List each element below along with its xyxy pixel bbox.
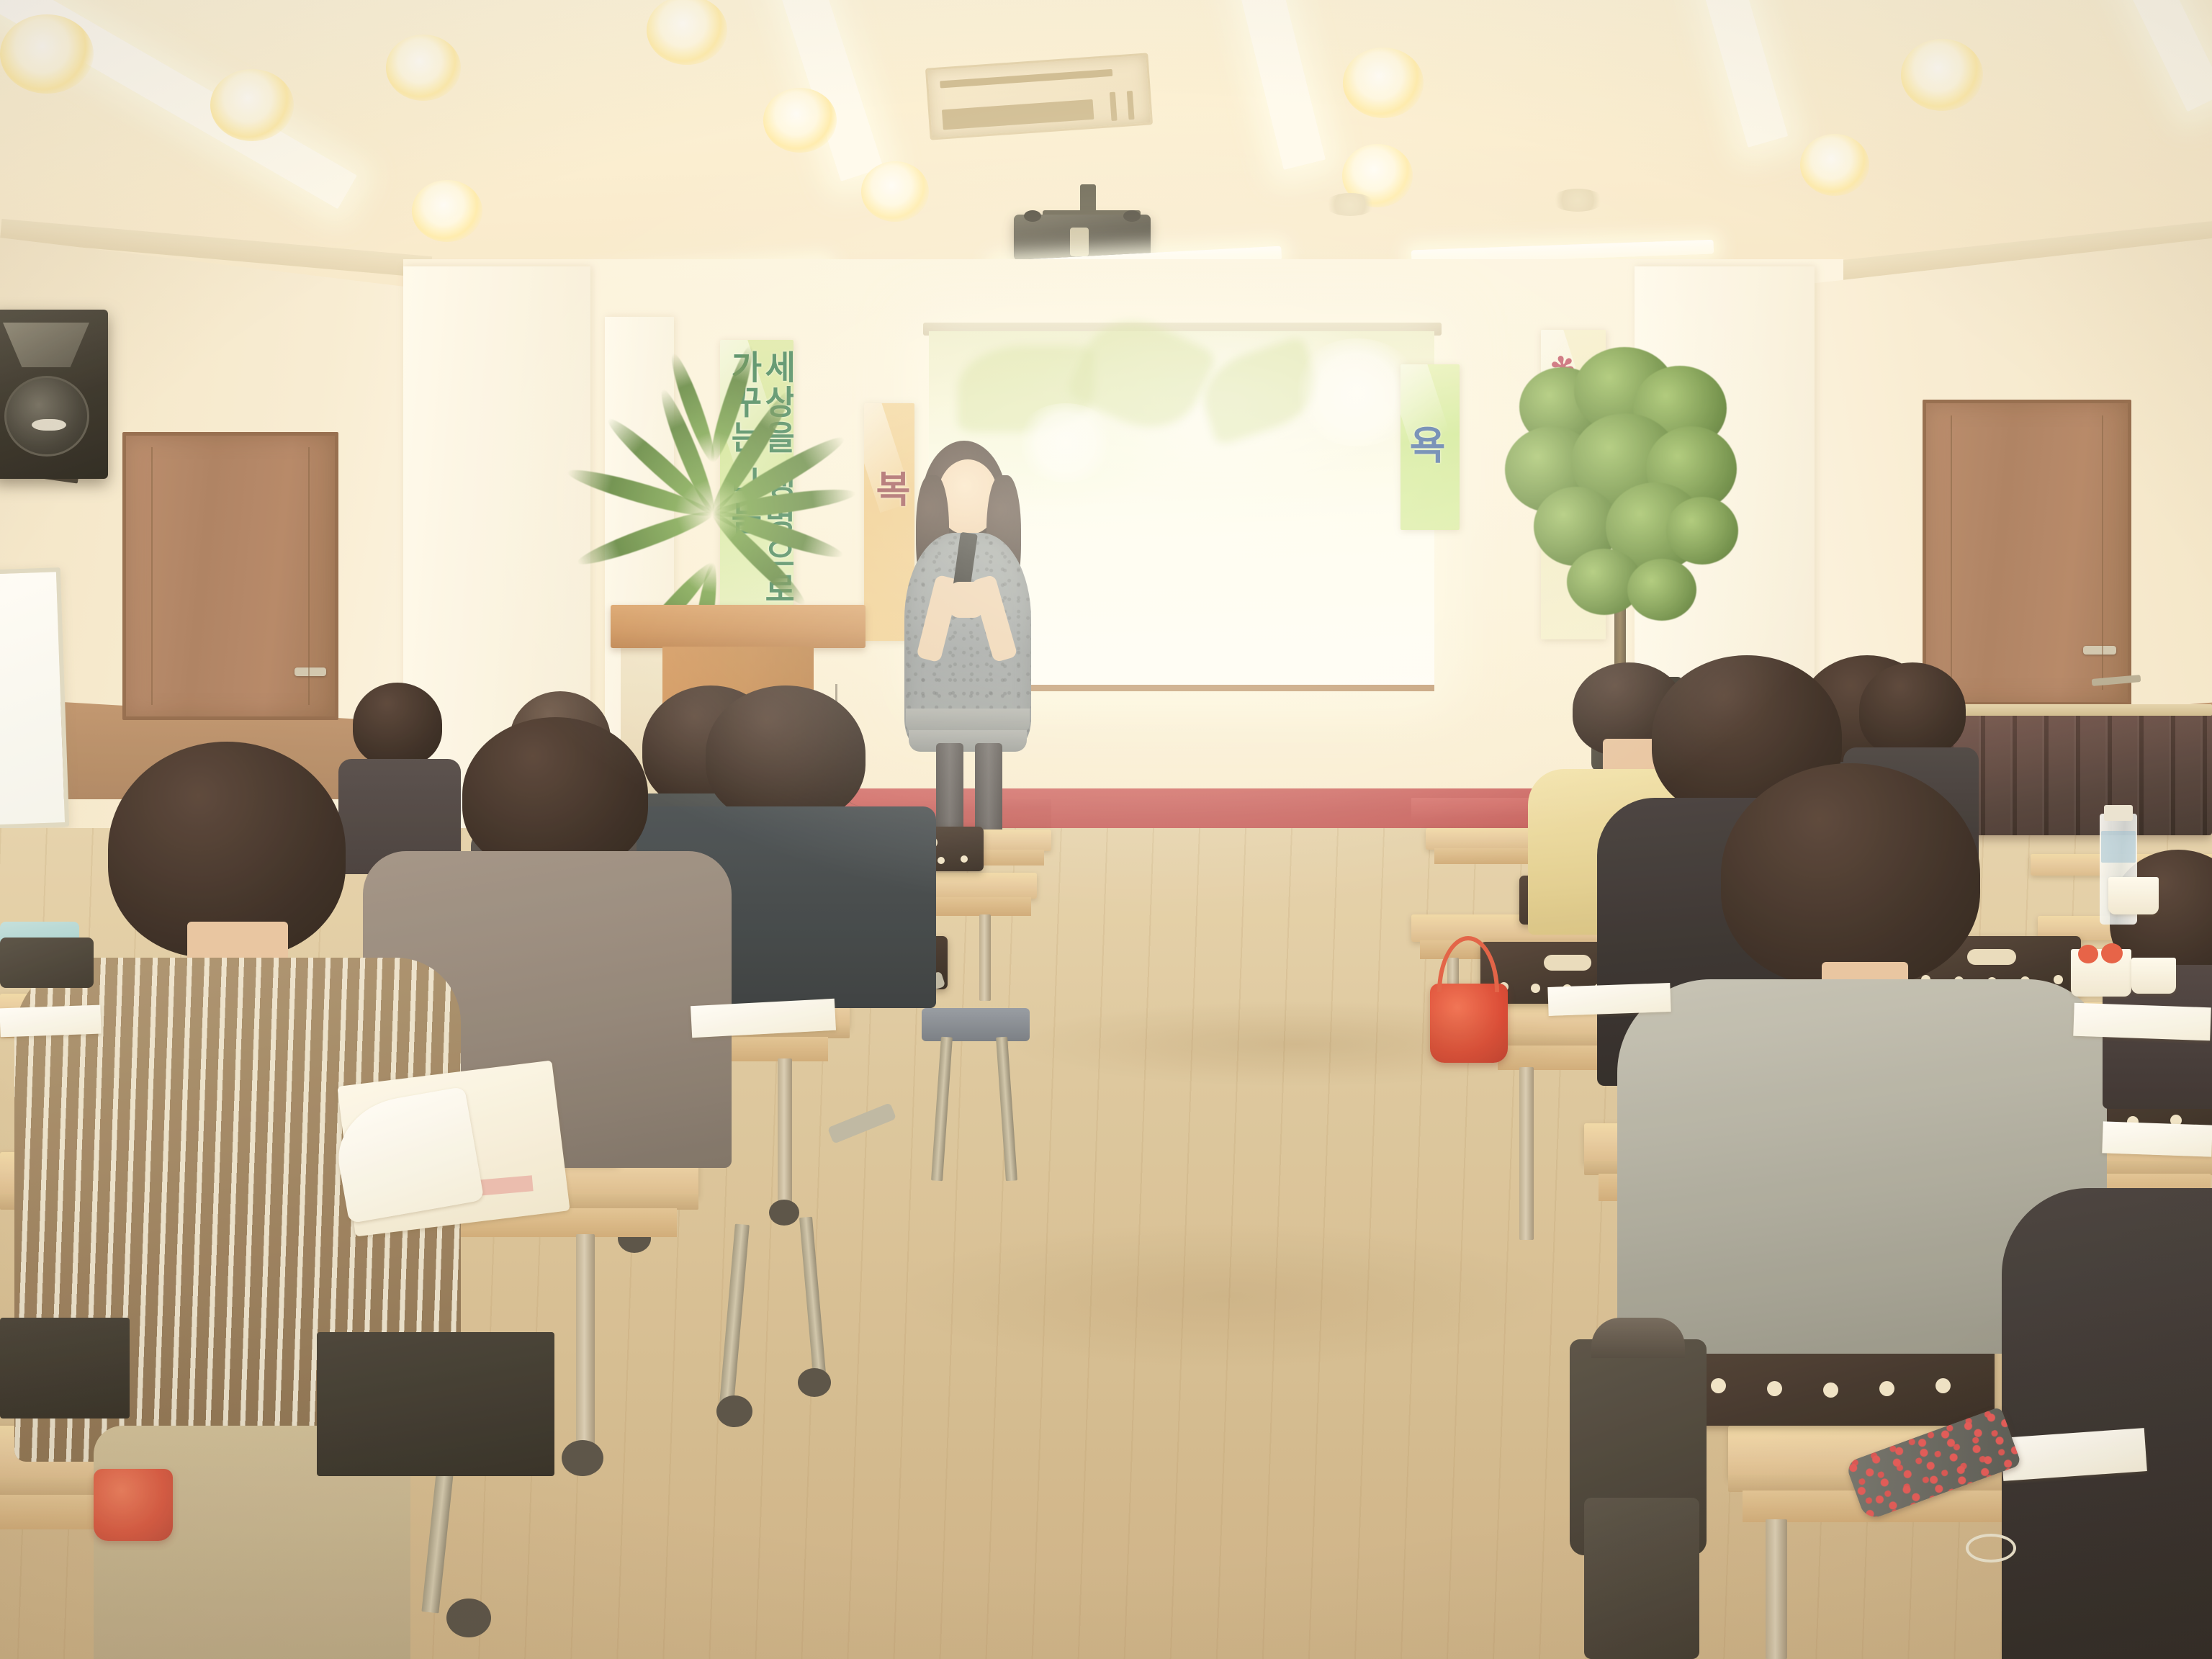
recessed-fitting-unlit (1325, 193, 1375, 216)
desk-leg (1519, 1067, 1534, 1240)
bag-front-left[interactable] (0, 1318, 130, 1419)
floor-shadow (1008, 1001, 1584, 1087)
chair-caster (798, 1368, 831, 1397)
desk-caster (562, 1440, 603, 1476)
chair-caster (716, 1395, 752, 1427)
audience-right-dark-suit (2002, 1188, 2212, 1659)
bag-under-desk[interactable] (317, 1332, 554, 1476)
ceiling-downlight (412, 180, 482, 242)
banner-right-green: 욕 (1401, 364, 1460, 530)
ceiling-downlight (861, 161, 929, 222)
desk-caster (769, 1200, 799, 1226)
paper-cup[interactable] (2131, 958, 2176, 994)
recessed-fitting-unlit (1552, 189, 1604, 212)
floor-shadow (900, 1224, 1548, 1368)
seminar-room-photo: 세상을 생명으로 가꾸는 나눔 복 욕 ✻ 당신이 세상을 바꿉니다 (0, 0, 2212, 1659)
door-left[interactable] (122, 432, 338, 720)
ceiling-downlight (763, 88, 837, 153)
ceiling-downlight (386, 35, 461, 101)
hair (1721, 763, 1980, 986)
bag-handle (1591, 1318, 1685, 1358)
water-bottle-cap[interactable] (2104, 805, 2133, 821)
umbrella-strap (1966, 1534, 2016, 1563)
door-handle-right[interactable] (2083, 646, 2116, 655)
ceiling-downlight (1901, 39, 1983, 111)
paper-on-desk[interactable] (2073, 1003, 2211, 1041)
plant-right-ficus (1505, 360, 1743, 662)
hair (462, 717, 648, 873)
ceiling-downlight (1800, 134, 1869, 196)
paper-cup-with-fruit[interactable] (2071, 949, 2131, 997)
desk-leg (979, 914, 991, 1001)
dark-bag-on-desk[interactable] (0, 938, 94, 988)
paper-cup[interactable] (2108, 877, 2159, 914)
desk-leg (1766, 1519, 1787, 1659)
bag-floor-right[interactable] (1584, 1498, 1699, 1659)
torso (2002, 1188, 2212, 1659)
paper-on-desk[interactable] (0, 1005, 102, 1038)
ceiling-downlight (210, 69, 294, 141)
desk-leg (576, 1234, 595, 1450)
desk-leg (778, 1058, 792, 1210)
podium-top (611, 605, 866, 648)
hair (1859, 662, 1966, 757)
presenter-hands (949, 582, 984, 618)
water-bottle-label (2101, 831, 2136, 863)
handbag-left-corner[interactable] (94, 1469, 173, 1541)
door-handle-left[interactable] (295, 667, 326, 676)
pa-speaker (0, 310, 108, 479)
paper-on-desk[interactable] (2102, 1121, 2212, 1156)
ceiling-downlight (1343, 48, 1424, 118)
ceiling-downlight (0, 14, 94, 94)
